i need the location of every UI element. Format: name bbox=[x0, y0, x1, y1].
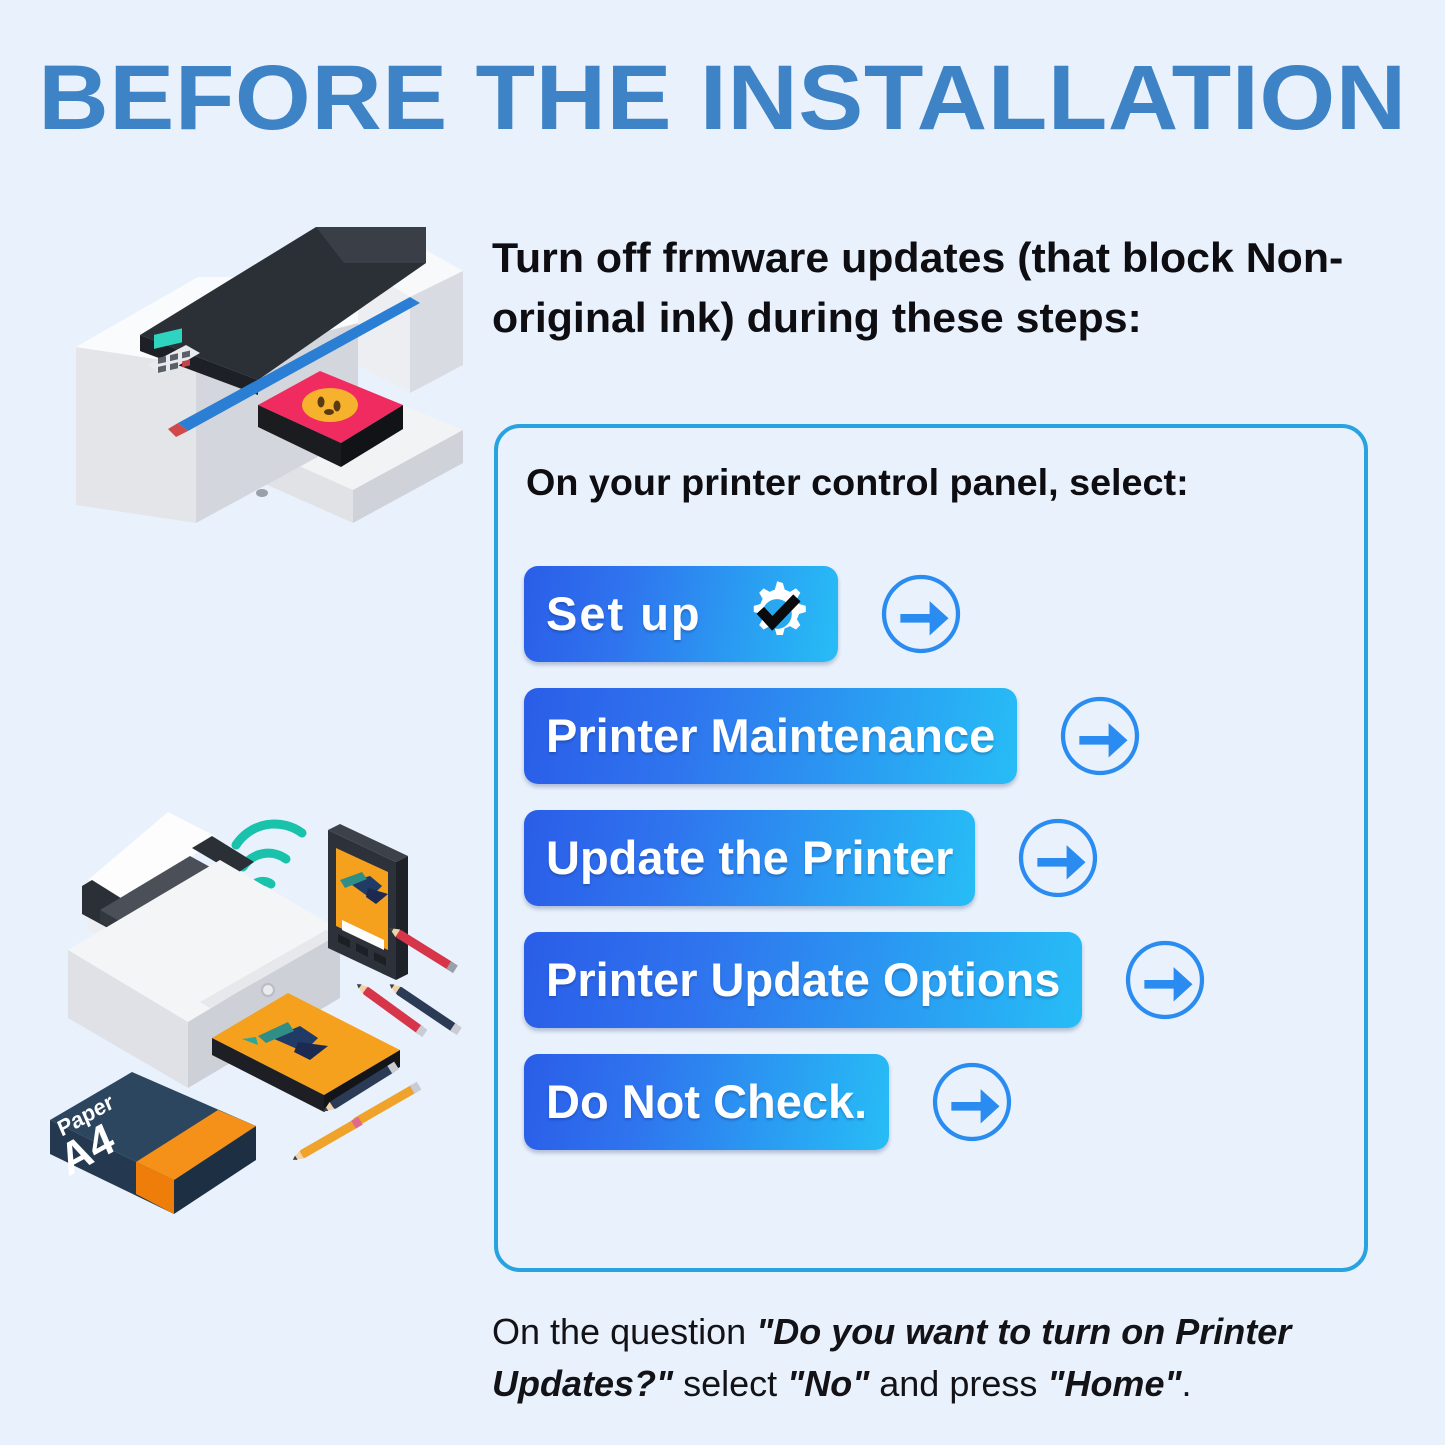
step-row: Printer Maintenance bbox=[524, 684, 1344, 788]
step-label: Printer Maintenance bbox=[546, 711, 995, 761]
home-printer-svg: Paper A4 bbox=[40, 790, 490, 1215]
footer-instruction: On the question "Do you want to turn on … bbox=[492, 1306, 1378, 1410]
arrow-right-circle-icon[interactable] bbox=[1057, 693, 1143, 779]
footer-quote-3: "Home" bbox=[1047, 1363, 1181, 1404]
panel-heading: On your printer control panel, select: bbox=[526, 460, 1189, 506]
arrow-right-circle-icon[interactable] bbox=[878, 571, 964, 657]
step-row: Printer Update Options bbox=[524, 928, 1344, 1032]
dtg-printer-illustration bbox=[58, 205, 468, 525]
footer-part-1: On the question bbox=[492, 1311, 756, 1352]
arrow-right-circle-icon[interactable] bbox=[1122, 937, 1208, 1023]
step-label: Set up bbox=[546, 589, 702, 639]
step-button-do-not-check[interactable]: Do Not Check. bbox=[524, 1054, 889, 1150]
step-row: Update the Printer bbox=[524, 806, 1344, 910]
steps-list: Set up Printer Maintenance bbox=[524, 562, 1344, 1172]
step-button-update-the-printer[interactable]: Update the Printer bbox=[524, 810, 975, 906]
step-button-printer-update-options[interactable]: Printer Update Options bbox=[524, 932, 1082, 1028]
step-button-set-up[interactable]: Set up bbox=[524, 566, 838, 662]
paper-ream-box: Paper A4 bbox=[50, 1072, 256, 1214]
subtitle-text: Turn off frmware updates (that block Non… bbox=[492, 228, 1390, 348]
footer-part-3: and press bbox=[869, 1363, 1047, 1404]
control-panel-steps-card: On your printer control panel, select: S… bbox=[494, 424, 1368, 1272]
gear-check-icon bbox=[738, 575, 816, 653]
arrow-right-circle-icon[interactable] bbox=[929, 1059, 1015, 1145]
home-printer-illustration: Paper A4 bbox=[40, 790, 490, 1215]
step-row: Set up bbox=[524, 562, 1344, 666]
step-label: Update the Printer bbox=[546, 833, 953, 883]
dtg-printer-svg bbox=[58, 205, 468, 525]
footer-part-4: . bbox=[1182, 1363, 1192, 1404]
step-label: Do Not Check. bbox=[546, 1077, 867, 1127]
arrow-right-circle-icon[interactable] bbox=[1015, 815, 1101, 901]
footer-quote-2: "No" bbox=[787, 1363, 869, 1404]
step-button-printer-maintenance[interactable]: Printer Maintenance bbox=[524, 688, 1017, 784]
step-row: Do Not Check. bbox=[524, 1050, 1344, 1154]
step-label: Printer Update Options bbox=[546, 955, 1060, 1005]
page-title: BEFORE THE INSTALLATION bbox=[0, 46, 1445, 150]
footer-part-2: select bbox=[673, 1363, 787, 1404]
